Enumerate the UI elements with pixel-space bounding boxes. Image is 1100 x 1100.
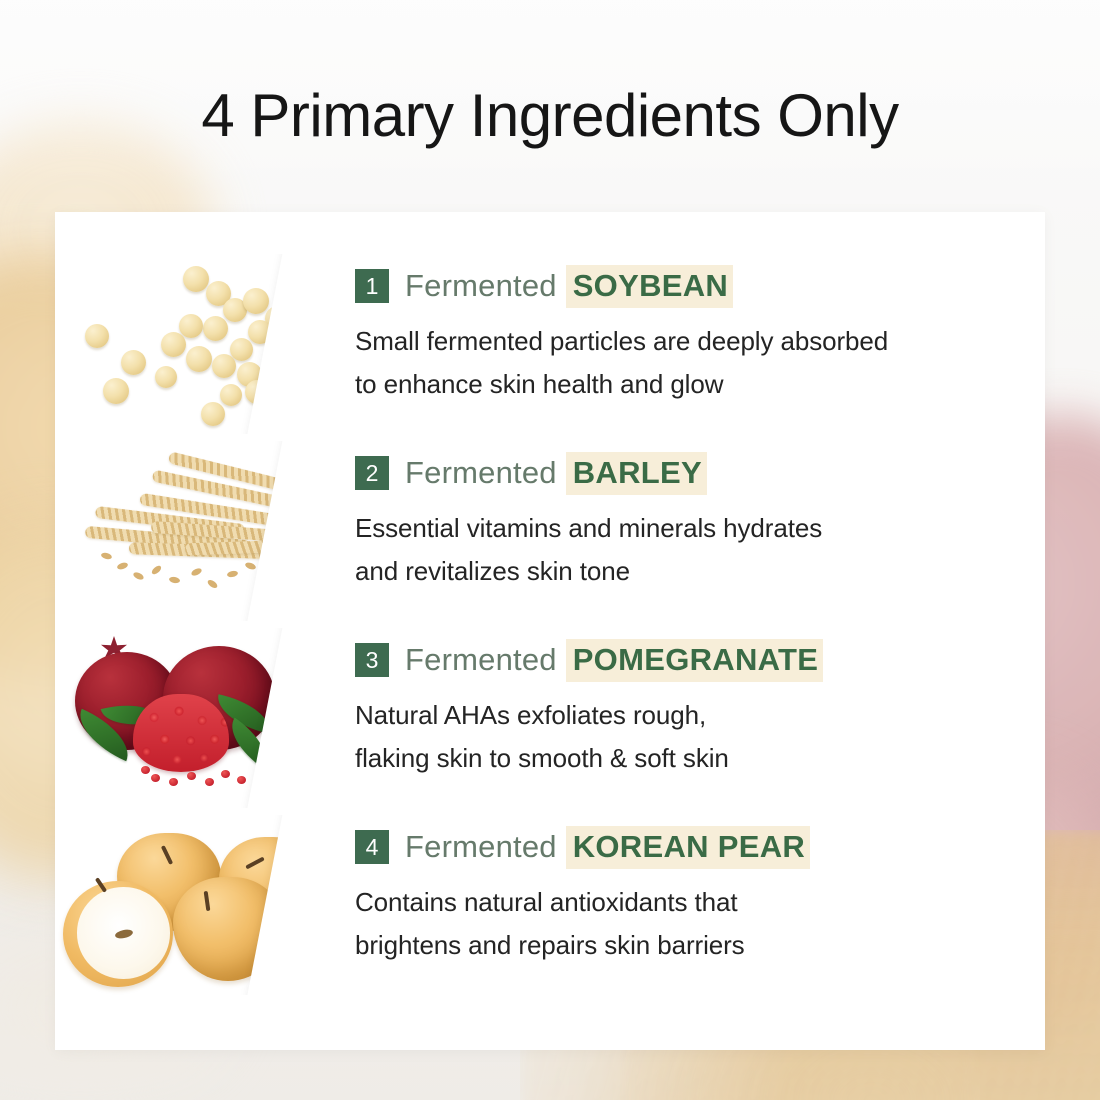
ingredient-description: Essential vitamins and minerals hydrates…	[355, 507, 1045, 593]
ingredient-description: Small fermented particles are deeply abs…	[355, 320, 1045, 406]
ingredient-number-badge: 4	[355, 830, 389, 864]
pomegranate-photo	[55, 628, 355, 808]
ingredient-name: POMEGRANATE	[566, 639, 824, 682]
soybeans-photo	[55, 254, 355, 434]
ingredient-number-badge: 3	[355, 643, 389, 677]
ingredient-text: 3 Fermented POMEGRANATE Natural AHAs exf…	[355, 628, 1045, 780]
ingredient-name: KOREAN PEAR	[566, 826, 810, 869]
ingredient-heading: 3 Fermented POMEGRANATE	[355, 640, 1045, 680]
list-item: 4 Fermented KOREAN PEAR Contains natural…	[55, 815, 1045, 1002]
ingredient-prefix: Fermented	[405, 829, 557, 865]
barley-photo	[55, 441, 355, 621]
description-line: brightens and repairs skin barriers	[355, 924, 1045, 967]
ingredient-heading: 2 Fermented BARLEY	[355, 453, 1045, 493]
ingredient-number-badge: 2	[355, 456, 389, 490]
ingredient-name: SOYBEAN	[566, 265, 733, 308]
ingredient-description: Contains natural antioxidants that brigh…	[355, 881, 1045, 967]
ingredient-name: BARLEY	[566, 452, 707, 495]
description-line: Small fermented particles are deeply abs…	[355, 320, 1045, 363]
ingredient-text: 1 Fermented SOYBEAN Small fermented part…	[355, 254, 1045, 406]
korean-pear-illustration	[55, 815, 355, 995]
ingredient-prefix: Fermented	[405, 268, 557, 304]
ingredient-description: Natural AHAs exfoliates rough, flaking s…	[355, 694, 1045, 780]
ingredient-text: 4 Fermented KOREAN PEAR Contains natural…	[355, 815, 1045, 967]
page-title: 4 Primary Ingredients Only	[0, 84, 1100, 147]
barley-illustration	[55, 441, 355, 621]
description-line: Natural AHAs exfoliates rough,	[355, 694, 1045, 737]
ingredient-text: 2 Fermented BARLEY Essential vitamins an…	[355, 441, 1045, 593]
list-item: 3 Fermented POMEGRANATE Natural AHAs exf…	[55, 628, 1045, 815]
description-line: Essential vitamins and minerals hydrates	[355, 507, 1045, 550]
description-line: flaking skin to smooth & soft skin	[355, 737, 1045, 780]
description-line: and revitalizes skin tone	[355, 550, 1045, 593]
ingredient-number-badge: 1	[355, 269, 389, 303]
list-item: 1 Fermented SOYBEAN Small fermented part…	[55, 254, 1045, 441]
ingredient-heading: 1 Fermented SOYBEAN	[355, 266, 1045, 306]
list-item: 2 Fermented BARLEY Essential vitamins an…	[55, 441, 1045, 628]
korean-pear-photo	[55, 815, 355, 995]
description-line: Contains natural antioxidants that	[355, 881, 1045, 924]
pomegranate-illustration	[55, 628, 355, 808]
ingredient-prefix: Fermented	[405, 642, 557, 678]
ingredient-prefix: Fermented	[405, 455, 557, 491]
ingredients-list: 1 Fermented SOYBEAN Small fermented part…	[55, 212, 1045, 1050]
ingredients-infographic: 4 Primary Ingredients Only	[0, 0, 1100, 1100]
ingredients-card: 1 Fermented SOYBEAN Small fermented part…	[55, 212, 1045, 1050]
ingredient-heading: 4 Fermented KOREAN PEAR	[355, 827, 1045, 867]
soybeans-illustration	[55, 254, 355, 434]
description-line: to enhance skin health and glow	[355, 363, 1045, 406]
